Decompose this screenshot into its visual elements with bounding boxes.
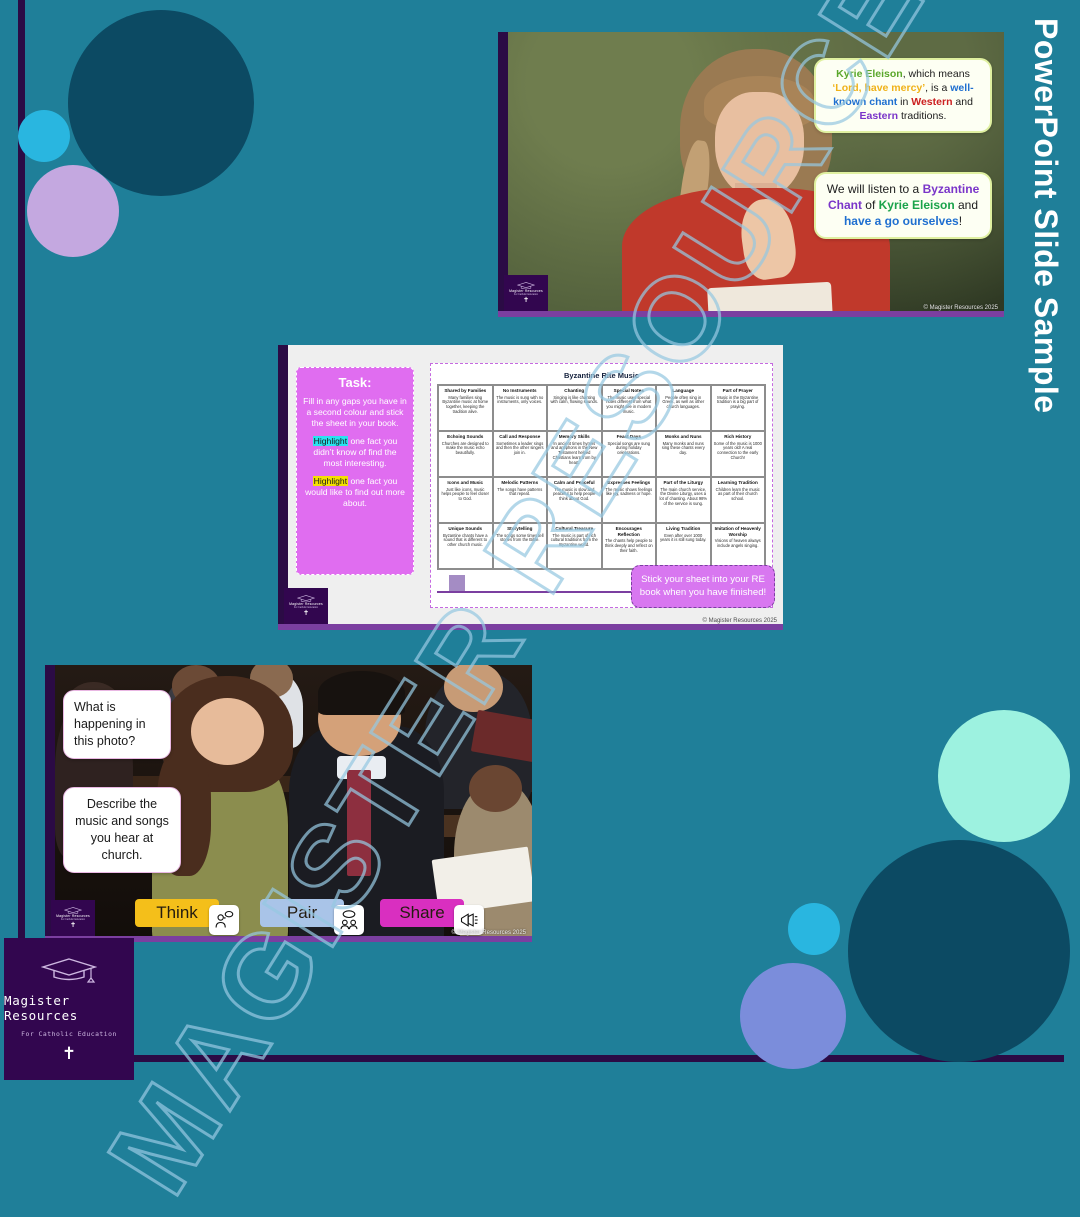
fact-cell-title: Call and Response bbox=[499, 434, 540, 440]
fact-cell-body: The songs some times tell stories from t… bbox=[496, 533, 545, 543]
fact-cell-title: Monks and Nuns bbox=[665, 434, 702, 440]
kyrie-definition-bubble: Kyrie Eleison, which means ‘Lord, have m… bbox=[814, 58, 992, 133]
left-vertical-rule bbox=[18, 0, 25, 1040]
task-card: Task: Fill in any gaps you have in a sec… bbox=[296, 367, 414, 575]
fact-cell-title: Melodic Patterns bbox=[501, 480, 538, 486]
share-button[interactable]: Share bbox=[380, 898, 484, 928]
dark-teal-circle-bottom bbox=[848, 840, 1070, 1062]
fact-cell-title: Storytelling bbox=[507, 526, 532, 532]
fact-cell-body: Music in the Byzantine tradition is a bi… bbox=[714, 395, 763, 410]
slide-2-byzantine-task[interactable]: Task: Fill in any gaps you have in a sec… bbox=[278, 345, 783, 630]
two-people-talking-icon bbox=[334, 905, 364, 935]
fact-cell: Shared by FamiliesMany families sing Byz… bbox=[438, 385, 493, 431]
question-bubble-2: Describe the music and songs you hear at… bbox=[63, 787, 181, 873]
slide-1-kyrie-eleison[interactable]: Kyrie Eleison, which means ‘Lord, have m… bbox=[498, 32, 1004, 317]
highlight-cyan-label: Highlight bbox=[313, 436, 348, 446]
person-thinking-icon bbox=[209, 905, 239, 935]
fact-cell-body: Children learn the music as part of thei… bbox=[714, 487, 763, 502]
fact-cell-title: Memory Skills bbox=[559, 434, 590, 440]
graduation-cap-icon bbox=[41, 956, 97, 986]
fact-cell: Memory SkillsIn ancient times hymns and … bbox=[547, 431, 602, 477]
question-bubble-1: What is happening in this photo? bbox=[63, 690, 171, 759]
slide-1-logo-badge: Magister Resources For Catholic Educatio… bbox=[504, 275, 548, 311]
fact-cell-title: Living Tradition bbox=[666, 526, 700, 532]
fact-cell: Icons and MusicJust like icons, music he… bbox=[438, 477, 493, 523]
fact-cell: Cultural TreasureThe music is part of ri… bbox=[547, 523, 602, 569]
graduation-cap-icon bbox=[297, 595, 315, 602]
fact-cell-title: Special Notes bbox=[614, 388, 644, 394]
bottom-horizontal-rule bbox=[18, 1055, 1064, 1062]
fact-cell-body: Many monks and nuns sing these chants ev… bbox=[659, 441, 708, 456]
share-label: Share bbox=[380, 899, 464, 927]
kyrie-definition-part-0: Kyrie Eleison bbox=[836, 68, 903, 80]
fact-cell-title: Chanting bbox=[564, 388, 584, 394]
fact-cell-body: Singing is like chanting with calm, flow… bbox=[550, 395, 599, 405]
brand-name: Magister Resources bbox=[4, 993, 134, 1023]
kyrie-definition-part-9: traditions. bbox=[898, 110, 946, 122]
fact-cell-body: Even after over 1000 years it is still s… bbox=[659, 533, 708, 543]
task-instruction-2: Highlight one fact you didn’t know of fi… bbox=[303, 436, 407, 469]
fact-cell-title: Feast Days bbox=[617, 434, 641, 440]
listen-activity-bubble: We will listen to a Byzantine Chant of K… bbox=[814, 172, 992, 239]
fact-cell-body: The music is sung with no instruments, o… bbox=[496, 395, 545, 405]
fact-cell-body: Special songs are sung during holiday ce… bbox=[605, 441, 654, 456]
fact-cell: Rich HistorySome of the music is 1000 ye… bbox=[711, 431, 766, 477]
fact-cell: Call and ResponseSometimes a leader sing… bbox=[493, 431, 548, 477]
kyrie-definition-part-8: Eastern bbox=[860, 110, 899, 122]
fact-cell: No InstrumentsThe music is sung with no … bbox=[493, 385, 548, 431]
fact-cell-body: Some of the music is 1000 years old! A r… bbox=[714, 441, 763, 461]
fact-cell-body: Visions of heaven always include angels … bbox=[714, 538, 763, 548]
fact-cell: Calm and PeacefulThe music is slow and p… bbox=[547, 477, 602, 523]
fact-cell-body: People often sing in Greek, as well as o… bbox=[659, 395, 708, 410]
fact-cell-body: The music is part of rich cultural tradi… bbox=[550, 533, 599, 548]
fact-cell-body: Just like icons, music helps people to f… bbox=[441, 487, 490, 502]
fact-cell-title: Language bbox=[672, 388, 694, 394]
side-label: PowerPoint Slide Sample bbox=[1018, 18, 1074, 338]
slide-2-logo-badge: Magister Resources For Catholic Educatio… bbox=[284, 588, 328, 624]
slide-2-copyright: © Magister Resources 2025 bbox=[703, 618, 777, 624]
kyrie-definition-part-6: Western bbox=[911, 96, 952, 108]
pair-label: Pair bbox=[260, 899, 344, 927]
slide-1-bottom-band bbox=[498, 311, 1004, 317]
slide-1-copyright: © Magister Resources 2025 bbox=[924, 305, 998, 311]
fact-cell: Echoing SoundsChurches are designed to m… bbox=[438, 431, 493, 477]
slide-2-bottom-band bbox=[278, 624, 783, 630]
fact-cell-body: Many families sing Byzantine music at ho… bbox=[441, 395, 490, 415]
fact-cell-body: The music is slow and peaceful to help p… bbox=[550, 487, 599, 502]
fact-cell-title: Calm and Peaceful bbox=[554, 480, 595, 486]
fact-cell-title: Unique Sounds bbox=[448, 526, 482, 532]
brand-logo-panel: Magister Resources For Catholic Educatio… bbox=[4, 938, 134, 1080]
side-label-text: PowerPoint Slide Sample bbox=[1030, 18, 1062, 414]
fact-cell-title: Expresses Feelings bbox=[607, 480, 650, 486]
fact-cell: Melodic PatternsThe songs have patterns … bbox=[493, 477, 548, 523]
fact-cell-body: The songs have patterns that repeat. bbox=[496, 487, 545, 497]
kyrie-definition-part-2: ‘Lord, have mercy’ bbox=[832, 82, 925, 94]
fact-cell: Special NotesThe music uses special note… bbox=[602, 385, 657, 431]
fact-cell-title: Learning Tradition bbox=[718, 480, 758, 486]
fact-cell: Imitation of Heavenly WorshipVisions of … bbox=[711, 523, 766, 569]
fact-cell-body: In ancient times hymns and antiphons in … bbox=[550, 441, 599, 466]
slide-3-think-pair-share[interactable]: What is happening in this photo? Describ… bbox=[45, 665, 532, 942]
fact-cell-title: Icons and Music bbox=[447, 480, 483, 486]
fact-cell-title: Shared by Families bbox=[444, 388, 486, 394]
fact-cell: Unique SoundsByzantine chants have a sou… bbox=[438, 523, 493, 569]
fact-cell-title: Imitation of Heavenly Worship bbox=[714, 526, 763, 537]
fact-cell: Learning TraditionChildren learn the mus… bbox=[711, 477, 766, 523]
megaphone-glyph bbox=[459, 910, 479, 930]
worksheet-title: Byzantine Rite Music bbox=[437, 371, 766, 380]
fact-cell-body: Sometimes a leader sings and then the ot… bbox=[496, 441, 545, 456]
think-label: Think bbox=[135, 899, 219, 927]
cyan-circle-bottom bbox=[788, 903, 840, 955]
slide-3-copyright: © Magister Resources 2025 bbox=[452, 930, 526, 936]
worksheet-corner-square bbox=[449, 575, 465, 591]
kyrie-definition-part-1: , which means bbox=[903, 68, 970, 80]
pair-button[interactable]: Pair bbox=[260, 898, 364, 928]
sticky-note: Stick your sheet into your RE book when … bbox=[631, 565, 775, 608]
fact-cell-body: The music uses special notes different f… bbox=[605, 395, 654, 415]
fact-cell: LanguagePeople often sing in Greek, as w… bbox=[656, 385, 711, 431]
listen-activity-part-3: Kyrie Eleison bbox=[879, 198, 955, 212]
kyrie-definition-part-7: and bbox=[953, 96, 973, 108]
fact-grid: Shared by FamiliesMany families sing Byz… bbox=[437, 384, 766, 570]
fact-cell-body: The chants help people to think deeply a… bbox=[605, 538, 654, 553]
fact-cell: Expresses FeelingsThe music shows feelin… bbox=[602, 477, 657, 523]
slide-3-logo-badge: Magister Resources For Catholic Educatio… bbox=[51, 900, 95, 936]
fact-cell: Living TraditionEven after over 1000 yea… bbox=[656, 523, 711, 569]
listen-activity-part-0: We will listen to a bbox=[827, 182, 923, 196]
fact-cell-title: Echoing Sounds bbox=[447, 434, 483, 440]
periwinkle-circle-bottom bbox=[740, 963, 846, 1069]
cross-icon: ✝ bbox=[62, 1045, 76, 1062]
fact-cell: Feast DaysSpecial songs are sung during … bbox=[602, 431, 657, 477]
kyrie-definition-part-5: in bbox=[897, 96, 911, 108]
listen-activity-part-4: and bbox=[955, 198, 978, 212]
page-canvas: PowerPoint Slide Sample Kyrie Eleison, w… bbox=[0, 0, 1080, 1080]
fact-cell: Part of PrayerMusic in the Byzantine tra… bbox=[711, 385, 766, 431]
fact-cell: Monks and NunsMany monks and nuns sing t… bbox=[656, 431, 711, 477]
think-button[interactable]: Think bbox=[135, 898, 239, 928]
two-people-glyph bbox=[339, 910, 359, 930]
graduation-cap-icon bbox=[64, 907, 82, 914]
fact-cell-title: Encourages Reflection bbox=[605, 526, 654, 537]
fact-cell-body: Byzantine chants have a sound that is di… bbox=[441, 533, 490, 548]
listen-activity-part-2: of bbox=[862, 198, 879, 212]
person-thinking-glyph bbox=[214, 910, 234, 930]
task-instruction-1: Fill in any gaps you have in a second co… bbox=[303, 396, 407, 429]
fact-cell: Part of the LiturgyThe main church servi… bbox=[656, 477, 711, 523]
lavender-circle-top bbox=[27, 165, 119, 257]
fact-cell: ChantingSinging is like chanting with ca… bbox=[547, 385, 602, 431]
cross-icon: ✝ bbox=[70, 922, 76, 929]
cross-icon: ✝ bbox=[303, 610, 309, 617]
brand-tagline: For Catholic Education bbox=[21, 1030, 117, 1038]
mint-circle-bottom bbox=[938, 710, 1070, 842]
fact-cell-body: The music shows feelings like joy, sadne… bbox=[605, 487, 654, 497]
fact-cell-title: Cultural Treasure bbox=[555, 526, 593, 532]
listen-activity-part-6: ! bbox=[959, 214, 962, 228]
kyrie-definition-part-3: , is a bbox=[925, 82, 950, 94]
fact-cell-title: Rich History bbox=[724, 434, 751, 440]
graduation-cap-icon bbox=[517, 282, 535, 289]
dark-teal-circle-top bbox=[68, 10, 254, 196]
task-heading: Task: bbox=[303, 375, 407, 390]
fact-cell: StorytellingThe songs some times tell st… bbox=[493, 523, 548, 569]
fact-cell-title: No Instruments bbox=[503, 388, 537, 394]
fact-cell-title: Part of the Liturgy bbox=[663, 480, 703, 486]
highlight-yellow-label: Highlight bbox=[313, 476, 348, 486]
task-instruction-3: Highlight one fact you would like to fin… bbox=[303, 476, 407, 509]
fact-cell-body: The main church service, the Divine Litu… bbox=[659, 487, 708, 507]
fact-cell: Encourages ReflectionThe chants help peo… bbox=[602, 523, 657, 569]
cyan-circle-top bbox=[18, 110, 70, 162]
listen-activity-part-5: have a go ourselves bbox=[844, 214, 959, 228]
fact-cell-title: Part of Prayer bbox=[723, 388, 753, 394]
cross-icon: ✝ bbox=[523, 297, 529, 304]
fact-cell-body: Churches are designed to make the music … bbox=[441, 441, 490, 456]
